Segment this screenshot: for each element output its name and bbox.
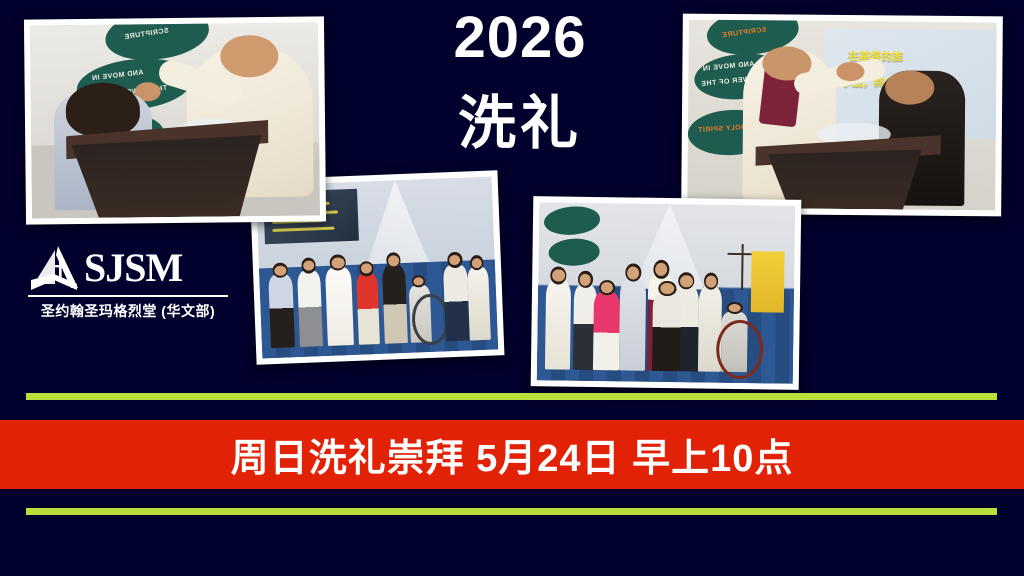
photo-3-person-7 [443,264,469,341]
photo-2-wall-text-4: HOLY SPIRIT [698,125,747,135]
photo-3-person-4 [356,273,380,345]
photo-1-candidate-hair [65,82,140,137]
photo-4-person-3 [593,292,620,371]
photo-4-cross-stand [741,244,744,290]
photo-3-ceiling-vault [364,179,429,264]
photo-1-image: SCRIPTURE AND MOVE IN THE POWER OF THE H… [30,22,320,218]
photo-3-screen-line-4 [272,227,334,232]
photo-3-person-5 [382,265,409,344]
photo-3-person-2 [297,270,323,347]
photo-3-person-2-face [303,260,315,271]
poster-canvas: SCRIPTURE AND MOVE IN THE POWER OF THE H… [0,0,1024,576]
photo-2-wall-text-1: SCRIPTURE [722,26,767,39]
photo-4-person-6-face [661,283,675,294]
photo-4-person-6 [652,293,681,372]
title-year: 2026 [390,8,650,69]
photo-3-person-1 [269,274,295,348]
logo-divider [28,295,228,297]
photo-1-lectern [71,135,262,218]
event-banner: 周日洗礼崇拜 5月24日 早上10点 [0,420,1024,489]
photo-4-wall-leaf-2 [548,237,601,267]
photo-1-pastor-head [220,34,278,77]
accent-rule-top [26,393,997,400]
photo-3-person-3 [325,267,354,346]
logo-subtitle: 圣约翰圣玛格烈堂 (华文部) [28,301,228,321]
photo-4-wall-leaf-1 [543,204,602,237]
photo-2-image: SCRIPTURE AND MOVE IN THE POWER OF THE H… [687,20,997,211]
logo-wordmark: SJSM [84,248,182,288]
photo-1-wall-text-1: SCRIPTURE [123,27,168,41]
photo-3-person-7-face [449,254,461,265]
photo-4-person-2-face [580,274,591,286]
church-cross-icon [28,244,80,292]
photo-group-portrait [531,196,802,390]
photo-2-wall-text-2: AND MOVE IN [703,61,756,73]
photo-2-candidate-head [885,70,935,104]
photo-4-cross-icon [728,253,754,255]
event-banner-text: 周日洗礼崇拜 5月24日 早上10点 [231,427,794,482]
photo-baptism-young-woman: SCRIPTURE AND MOVE IN THE POWER OF THE H… [24,16,326,224]
photo-4-person-7-face [705,275,716,287]
photo-1-scene: SCRIPTURE AND MOVE IN THE POWER OF THE H… [30,22,320,218]
title-heading: 洗礼 [390,91,650,158]
title-block: 2026 洗礼 [390,8,650,158]
photo-4-person-4 [619,278,646,371]
photo-3-person-8 [467,267,491,340]
photo-4-person-1 [545,281,572,370]
photo-2-scene: SCRIPTURE AND MOVE IN THE POWER OF THE H… [687,20,997,211]
church-logo: SJSM 圣约翰圣玛格烈堂 (华文部) [28,244,228,321]
photo-4-image [537,202,795,384]
photo-2-pastor-hand [836,62,864,81]
logo-row: SJSM [28,244,228,292]
photo-1-wall-text-2: AND MOVE IN [91,69,144,82]
photo-baptism-elder-man: SCRIPTURE AND MOVE IN THE POWER OF THE H… [681,14,1003,217]
photo-4-scene [537,202,795,384]
photo-4-church-banner [750,251,784,312]
accent-rule-bottom [26,508,997,515]
